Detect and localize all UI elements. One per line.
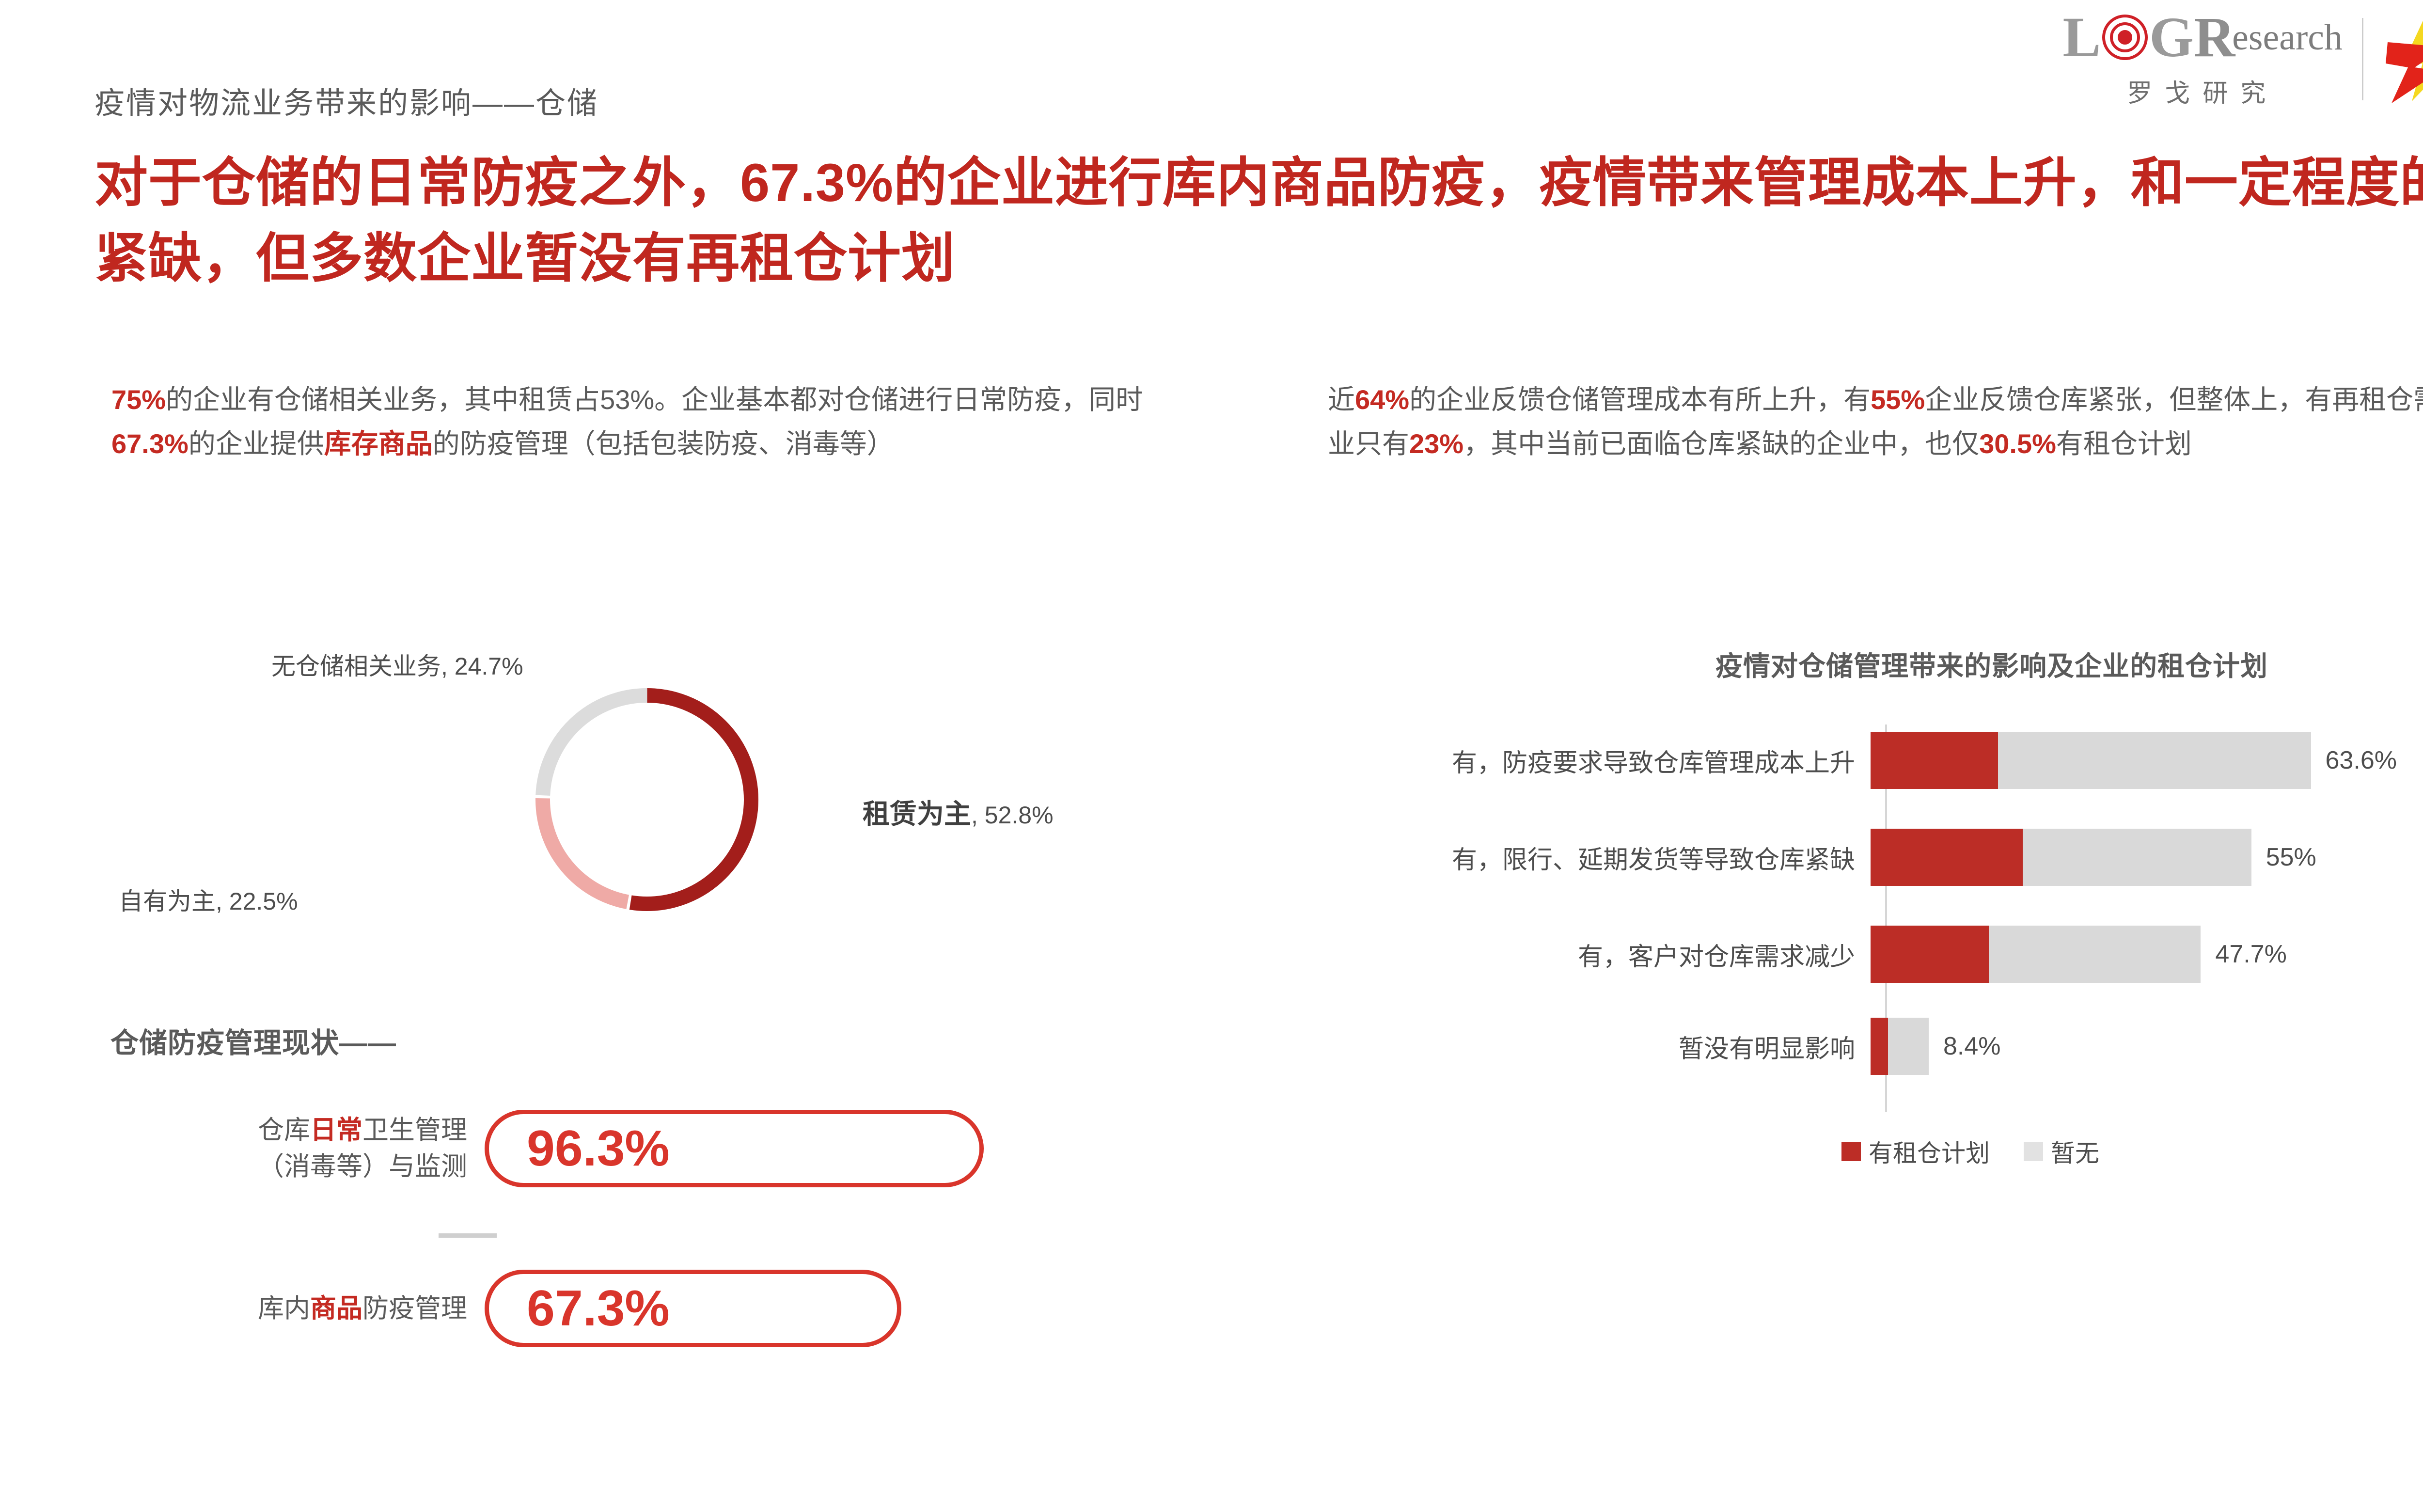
bar-segment-red-3 (1871, 1018, 1888, 1075)
legend-label-0: 有租仓计划 (1869, 1134, 1990, 1169)
prevention-unit-1: % (625, 1123, 669, 1174)
donut-label-no-warehouse: 无仓储相关业务, 24.7% (271, 647, 523, 682)
warehouse-impact-bar-chart: 疫情对仓储管理带来的影响及企业的租仓计划 有，防疫要求导致仓库管理成本上升 63… (1328, 635, 2423, 1279)
prev-2-text-hl: 商品 (310, 1294, 362, 1323)
left-para-text-2: 的企业提供 (189, 428, 324, 459)
bar-segment-red-1 (1871, 829, 2023, 886)
target-logo-icon (2102, 14, 2148, 61)
bar-category-1: 有，限行、延期发货等导致仓库紧缺 (1328, 839, 1871, 876)
right-para-stat-64: 64% (1355, 384, 1409, 415)
bar-value-0: 63.6% (2326, 746, 2397, 775)
donut-label-leased-value: , 52.8% (971, 802, 1054, 829)
lightning-bolt-icon (2383, 13, 2423, 105)
bar-segment-red-2 (1871, 926, 1989, 983)
table-row: 有，防疫要求导致仓库管理成本上升 63.6% (1328, 732, 2423, 789)
bar-segment-grey-1 (2023, 829, 2251, 886)
right-para-stat-305: 30.5% (1979, 428, 2056, 459)
bar-value-2: 47.7% (2215, 940, 2286, 969)
prevention-row-2-label: 库内商品防疫管理 (97, 1291, 485, 1327)
prevention-value-pill-1: 96.3% (485, 1110, 984, 1187)
prevention-row-1-label: 仓库日常卫生管理（消毒等）与监测 (97, 1112, 485, 1184)
bar-segment-grey-3 (1888, 1018, 1929, 1075)
prevention-divider (439, 1233, 497, 1238)
prev-2-text-b: 防疫管理 (362, 1294, 467, 1323)
prev-2-text-a: 库内 (258, 1294, 310, 1323)
page-title: 对于仓储的日常防疫之外，67.3%的企业进行库内商品防疫，疫情带来管理成本上升，… (94, 145, 2423, 297)
right-para-text-0: 近 (1328, 384, 1355, 415)
logr-research-logo: L G R esearch 罗戈研究 (2062, 9, 2343, 109)
prevention-value-pill-2: 67.3% (485, 1270, 901, 1347)
prev-1-text-b: 卫生管理 (362, 1116, 467, 1145)
partner-logo: 想乐诶 联天下 想必达 (2383, 13, 2423, 105)
left-para-stat-673: 67.3% (111, 428, 189, 459)
left-para-emphasis: 库存商品 (324, 428, 433, 459)
logo-block: L G R esearch 罗戈研究 想乐诶 联天下 想必达 (2062, 9, 2423, 109)
right-para-stat-23: 23% (1409, 428, 1463, 459)
left-para-text-1: 的企业有仓储相关业务，其中租赁占53%。企业基本都对仓储进行日常防疫，同时 (166, 384, 1143, 415)
prevention-value-1: 96.3 (527, 1123, 625, 1174)
legend-swatch-red (1841, 1142, 1861, 1161)
prevention-row-goods: 库内商品防疫管理 67.3% (97, 1270, 901, 1347)
warehouse-ownership-donut-chart: 无仓储相关业务, 24.7% 自有为主, 22.5% 租赁为主, 52.8% (0, 572, 1260, 1018)
bar-category-2: 有，客户对仓库需求减少 (1328, 936, 1871, 973)
left-para-stat-75: 75% (111, 384, 166, 415)
donut-label-leased-name: 租赁为主 (863, 799, 971, 829)
logo-letter-l: L (2062, 9, 2101, 66)
slide-header: 疫情对物流业务带来的影响——仓储 L G R esearch 罗戈研究 想乐诶 (0, 0, 2423, 145)
left-body-paragraph: 75%的企业有仓储相关业务，其中租赁占53%。企业基本都对仓储进行日常防疫，同时… (111, 378, 1187, 466)
table-row: 暂没有明显影响 8.4% (1328, 1018, 2423, 1075)
donut-svg (535, 688, 758, 911)
bar-track-1 (1871, 829, 2251, 886)
logo-letter-r: R (2194, 9, 2235, 66)
bar-value-1: 55% (2266, 843, 2316, 872)
right-para-text-3: ，其中当前已面临仓库紧缺的企业中，也仅 (1463, 428, 1979, 459)
table-row: 有，客户对仓库需求减少 47.7% (1328, 926, 2423, 983)
bar-value-3: 8.4% (1943, 1032, 2001, 1061)
logo-esearch-text: esearch (2232, 19, 2343, 56)
prev-1-text-hl: 日常 (310, 1116, 362, 1145)
legend-label-1: 暂无 (2051, 1134, 2099, 1169)
table-row: 有，限行、延期发货等导致仓库紧缺 55% (1328, 829, 2423, 886)
logo-chinese-name: 罗戈研究 (2127, 73, 2278, 109)
right-para-text-1: 的企业反馈仓储管理成本有所上升，有 (1409, 384, 1871, 415)
legend-item-has-plan[interactable]: 有租仓计划 (1841, 1134, 1990, 1169)
prev-1-text-a: 仓库 (258, 1116, 310, 1145)
bar-chart-legend: 有租仓计划 暂无 (1841, 1134, 2099, 1169)
bar-category-3: 暂没有明显影响 (1328, 1028, 1871, 1065)
prev-1-text-c: （消毒等）与监测 (258, 1152, 467, 1181)
bar-track-3 (1871, 1018, 1929, 1075)
left-para-text-3: 的防疫管理（包括包装防疫、消毒等） (433, 428, 894, 459)
legend-item-none[interactable]: 暂无 (2024, 1134, 2099, 1169)
donut-label-self-owned: 自有为主, 22.5% (119, 882, 298, 917)
right-para-stat-55: 55% (1871, 384, 1925, 415)
prevention-row-daily-hygiene: 仓库日常卫生管理（消毒等）与监测 96.3% (97, 1110, 984, 1187)
bar-segment-red-0 (1871, 732, 1998, 789)
bar-track-2 (1871, 926, 2201, 983)
bar-track-0 (1871, 732, 2311, 789)
slide-kicker: 疫情对物流业务带来的影响——仓储 (94, 79, 598, 122)
logo-letter-g: G (2149, 9, 2194, 66)
prevention-unit-2: % (625, 1283, 669, 1334)
bar-segment-grey-2 (1989, 926, 2201, 983)
bar-category-0: 有，防疫要求导致仓库管理成本上升 (1328, 742, 1871, 779)
prevention-value-2: 67.3 (527, 1283, 625, 1334)
donut-label-leased: 租赁为主, 52.8% (863, 792, 1054, 832)
bar-chart-title: 疫情对仓储管理带来的影响及企业的租仓计划 (1531, 645, 2423, 684)
bar-segment-grey-0 (1998, 732, 2311, 789)
logo-divider (2362, 18, 2363, 100)
prevention-section-heading: 仓储防疫管理现状—— (110, 1020, 396, 1061)
right-body-paragraph: 近64%的企业反馈仓储管理成本有所上升，有55%企业反馈仓库紧张，但整体上，有再… (1328, 378, 2423, 466)
right-para-text-4: 有租仓计划 (2056, 428, 2192, 459)
legend-swatch-grey (2024, 1142, 2043, 1161)
